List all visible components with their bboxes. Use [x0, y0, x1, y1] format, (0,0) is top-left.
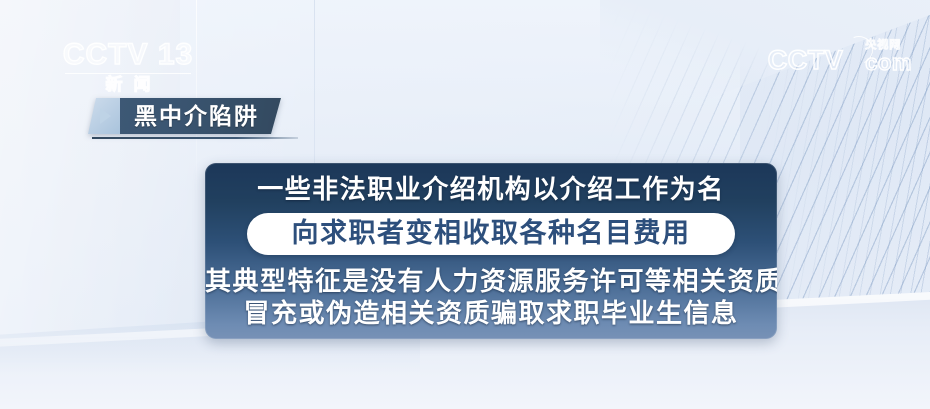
cctv-com-watermark: CCTV 央视网 com — [768, 40, 912, 74]
message-highlight-pill: 向求职者变相收取各种名目费用 — [247, 213, 735, 255]
broadcast-frame: CCTV 13 新闻 CCTV 央视网 com 黑中介陷阱 一些非法职业介绍机构… — [0, 0, 930, 409]
background-top-wash — [180, 0, 740, 190]
channel-logo: CCTV 13 新闻 — [48, 40, 208, 95]
message-line-1: 一些非法职业介绍机构以介绍工作为名 — [205, 174, 777, 206]
play-arrow-icon — [88, 98, 120, 134]
topic-banner-label: 黑中介陷阱 — [134, 105, 259, 128]
watermark-brand: CCTV — [768, 47, 844, 74]
topic-banner-body: 黑中介陷阱 — [120, 98, 281, 134]
watermark-row: CCTV 央视网 com — [768, 40, 912, 74]
channel-logo-divider — [65, 73, 191, 74]
message-panel: 一些非法职业介绍机构以介绍工作为名 向求职者变相收取各种名目费用 其典型特征是没… — [205, 163, 777, 339]
topic-banner: 黑中介陷阱 — [88, 98, 281, 134]
swoosh-icon — [843, 44, 873, 74]
message-line-3: 其典型特征是没有人力资源服务许可等相关资质 — [205, 266, 777, 298]
channel-logo-subtitle: 新闻 — [48, 76, 208, 95]
message-line-4: 冒充或伪造相关资质骗取求职毕业生信息 — [205, 298, 777, 330]
channel-logo-wordmark: CCTV 13 — [48, 40, 208, 70]
message-lines: 一些非法职业介绍机构以介绍工作为名 向求职者变相收取各种名目费用 其典型特征是没… — [205, 163, 777, 330]
message-highlight-text: 向求职者变相收取各种名目费用 — [292, 220, 691, 247]
topic-banner-underline — [92, 137, 298, 139]
